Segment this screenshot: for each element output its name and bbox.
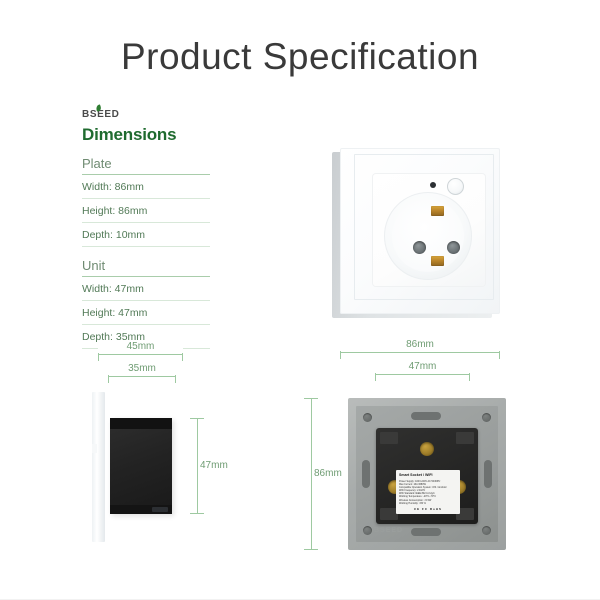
dimension-bar	[98, 354, 183, 355]
side-body-top-edge	[110, 418, 172, 429]
label-title: Smart Socket / WIFI	[399, 473, 457, 478]
dimension-side-height: 47mm	[186, 418, 208, 514]
side-glass-plate	[92, 392, 105, 542]
dimension-label-86mm-height: 86mm	[314, 466, 342, 482]
dimension-bar	[375, 374, 470, 375]
screw-hole-bottom-right	[482, 526, 491, 535]
dimension-bar	[197, 418, 198, 514]
screw-hole-top-left	[363, 413, 372, 422]
dimension-bar	[108, 376, 176, 377]
earth-clip-top-icon	[431, 206, 444, 216]
spec-row-unit-height: Height: 47mm	[82, 301, 210, 325]
brand-logo: BSEED	[82, 109, 119, 121]
side-body-tab	[152, 507, 168, 512]
product-specification-page: Product Specification BSEED Dimensions P…	[0, 0, 600, 600]
label-spec-lines: Power Supply: 100V-240V AC 50/60Hz Max C…	[399, 480, 457, 505]
side-body	[110, 418, 172, 514]
dimension-tick-bottom	[190, 513, 204, 514]
dimension-label-47mm-width: 47mm	[375, 360, 470, 373]
product-back-image: BSEED Smart Socket / WIFI Power Supply: …	[348, 398, 506, 550]
side-glass-notch	[92, 444, 97, 453]
mounting-slot-bottom	[411, 528, 441, 536]
spec-row-plate-height: Height: 86mm	[82, 199, 210, 223]
dimension-bar	[311, 398, 312, 550]
spec-row-plate-depth: Depth: 10mm	[82, 223, 210, 247]
certification-marks: CE FC RoHS	[399, 507, 457, 511]
terminal-module: Smart Socket / WIFI Power Supply: 100V-2…	[376, 428, 478, 524]
dimension-front-width-outer: 86mm	[340, 338, 500, 358]
label-line: Working Humidity: <80 %	[399, 502, 457, 505]
dimension-label-86mm-width: 86mm	[340, 338, 500, 351]
mounting-slot-top	[411, 412, 441, 420]
dimension-front-width-inner: 47mm	[375, 360, 470, 380]
dimension-back-height: 86mm	[300, 398, 322, 550]
spec-group-plate-heading: Plate	[82, 156, 210, 175]
dimension-label-47mm-height: 47mm	[200, 458, 228, 474]
dimensions-heading: Dimensions	[82, 125, 210, 145]
socket-face	[373, 174, 485, 286]
brand-name: BSEED	[82, 109, 119, 120]
earth-clip-bottom-icon	[431, 256, 444, 266]
module-bracket-top-left	[380, 432, 398, 444]
screw-hole-bottom-left	[363, 526, 372, 535]
back-brand-emboss: BSEED	[374, 527, 403, 534]
pin-hole-right	[447, 241, 460, 254]
spec-group-unit-heading: Unit	[82, 258, 210, 277]
dimension-bar	[340, 352, 500, 353]
dimension-label-45mm: 45mm	[98, 340, 183, 353]
module-bracket-top-right	[456, 432, 474, 444]
page-title: Product Specification	[0, 36, 600, 78]
mounting-slot-left	[362, 460, 370, 488]
dimension-side-outer: 45mm	[98, 340, 183, 360]
dimension-tick-top	[190, 418, 204, 419]
socket-recess	[384, 192, 472, 280]
spec-row-plate-width: Width: 86mm	[82, 175, 210, 199]
product-front-image	[332, 148, 500, 322]
side-body-bottom-edge	[110, 505, 172, 514]
glass-plate	[340, 148, 500, 314]
dimension-tick-top	[304, 398, 318, 399]
socket-inner	[392, 200, 464, 272]
dimension-label-35mm: 35mm	[108, 362, 176, 375]
terminal-screw-top	[420, 442, 434, 456]
dimension-tick-bottom	[304, 549, 318, 550]
screw-hole-top-right	[482, 413, 491, 422]
dimension-side-inner: 35mm	[108, 362, 176, 382]
mounting-slot-right	[484, 460, 492, 488]
product-side-image	[90, 392, 200, 542]
spec-row-unit-width: Width: 47mm	[82, 277, 210, 301]
back-frame: BSEED Smart Socket / WIFI Power Supply: …	[348, 398, 506, 550]
specification-panel: BSEED Dimensions Plate Width: 86mm Heigh…	[82, 104, 210, 349]
power-button	[447, 178, 464, 195]
led-indicator-icon	[430, 182, 436, 188]
pin-hole-left	[413, 241, 426, 254]
product-spec-label: Smart Socket / WIFI Power Supply: 100V-2…	[396, 470, 460, 514]
